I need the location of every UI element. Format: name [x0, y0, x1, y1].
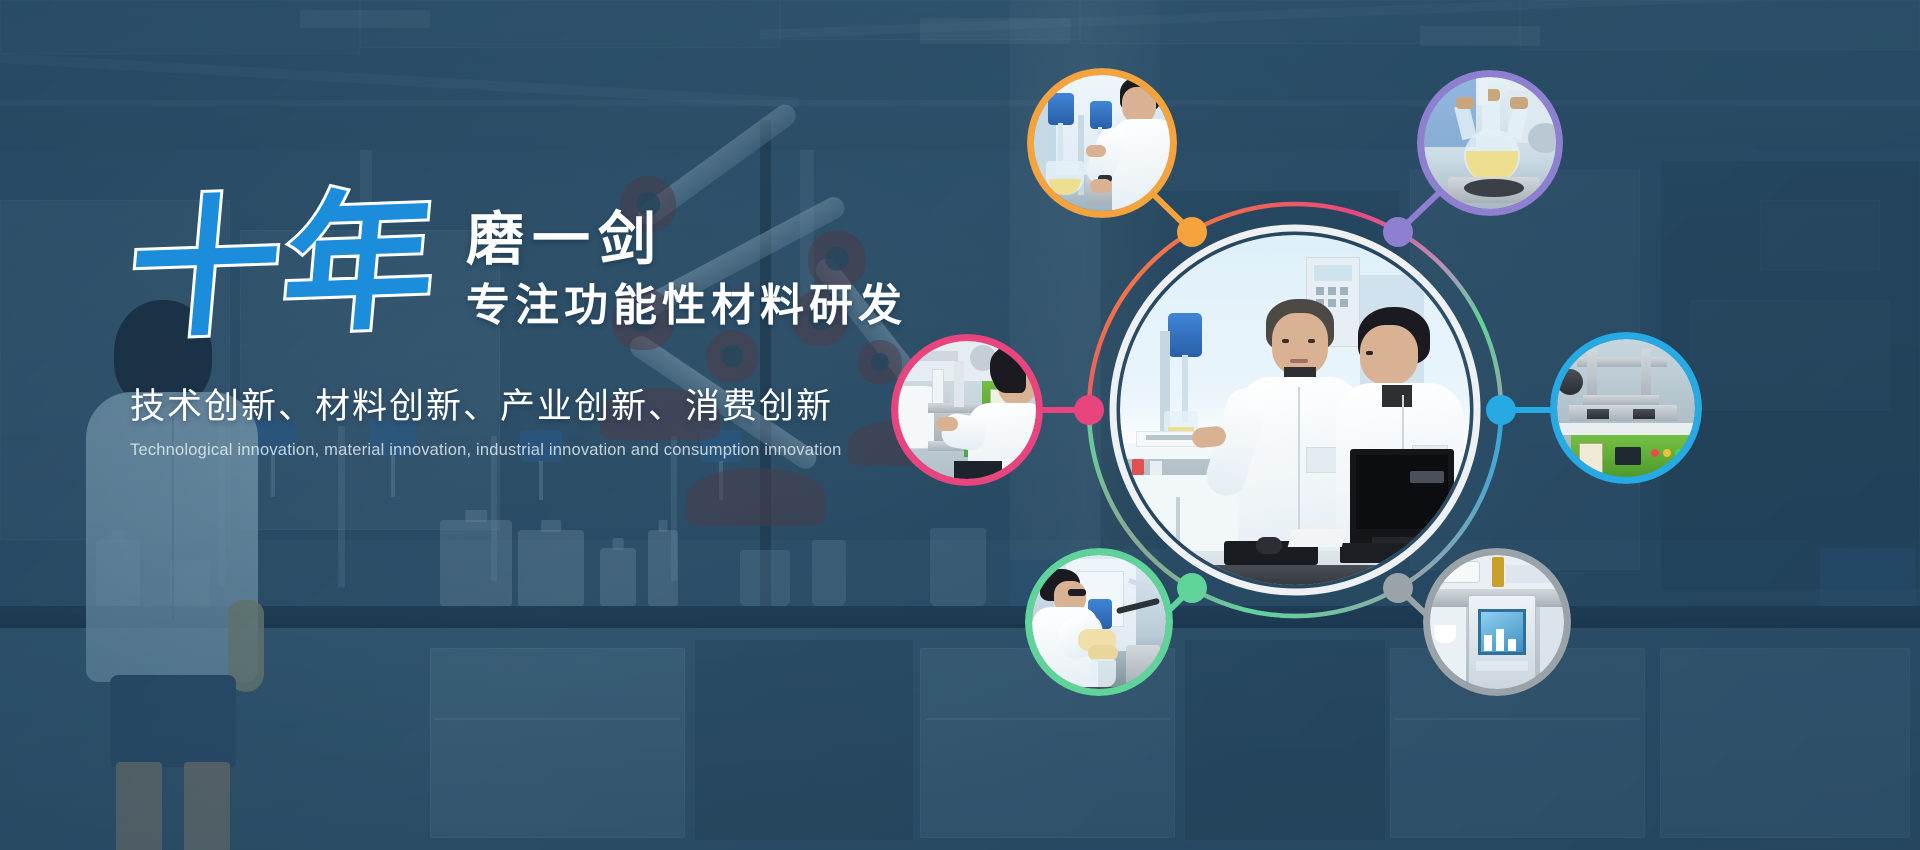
calligraphy-title: 十年	[123, 191, 445, 346]
satellite-film-tester	[1550, 332, 1702, 484]
satellite-fume-hood-sampling	[1025, 548, 1173, 696]
headline-line-2: 专注功能性材料研发	[466, 279, 907, 333]
headline-text-group: 磨一剑 专注功能性材料研发	[466, 196, 907, 333]
node-dot-blue	[1486, 395, 1516, 425]
headline-line-1: 磨一剑	[466, 208, 907, 273]
satellite-purple-flask-reaction	[1417, 70, 1563, 216]
headline-row: 十年 磨一剑 专注功能性材料研发	[130, 196, 850, 340]
circular-infographic	[1005, 100, 1585, 720]
subheadline-chinese: 技术创新、材料创新、产业创新、消费创新	[130, 378, 850, 429]
hero-banner: 十年 磨一剑 专注功能性材料研发 技术创新、材料创新、产业创新、消费创新 Tec…	[0, 0, 1920, 850]
headline-block: 十年 磨一剑 专注功能性材料研发 技术创新、材料创新、产业创新、消费创新 Tec…	[130, 196, 850, 460]
node-dot-pink	[1074, 395, 1104, 425]
satellite-reactor-operation	[1027, 68, 1177, 218]
satellite-winding-machine	[891, 334, 1043, 486]
satellite-analysis-instrument	[1423, 548, 1571, 696]
subheadline-english: Technological innovation, material innov…	[130, 441, 850, 460]
hero-photo-two-researchers	[1120, 235, 1470, 585]
